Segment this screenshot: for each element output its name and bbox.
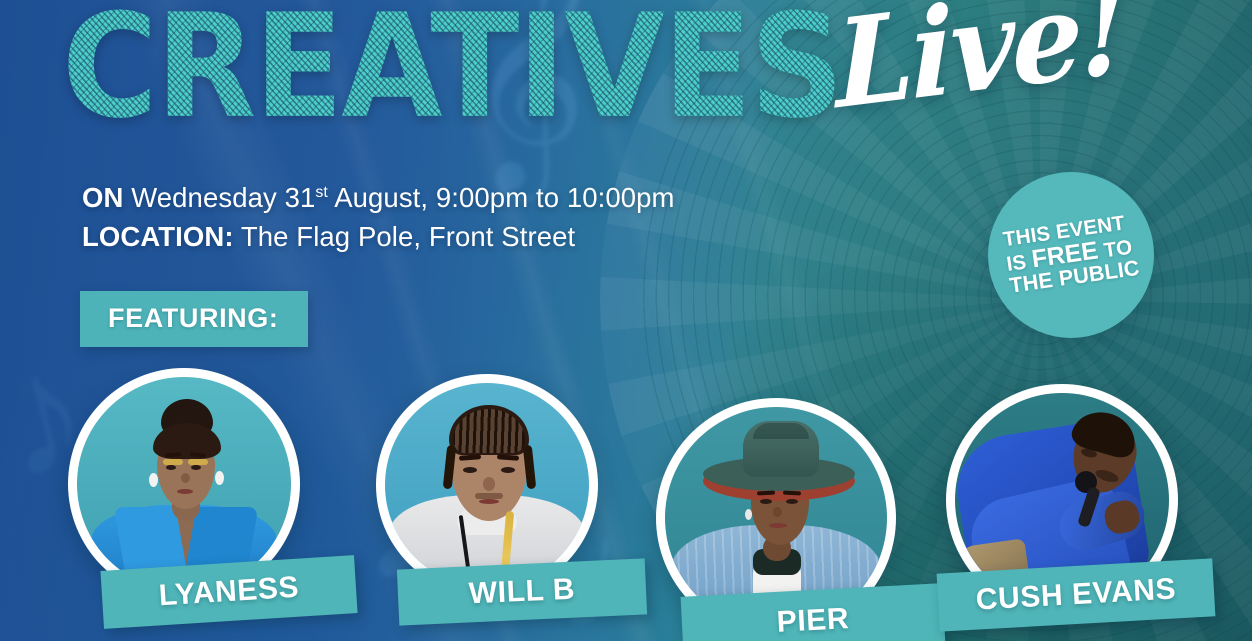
artist-photo (385, 383, 589, 587)
artist-card-pier: PIER (656, 398, 896, 638)
event-poster: 𝄞 ♪ ♩ ♪ CREATIVES CREATIVES Live! ON Wed… (0, 0, 1252, 641)
artist-name: WILL B (468, 573, 576, 612)
artist-card-lyaness: LYANESS (68, 368, 300, 600)
artist-name: CUSH EVANS (975, 572, 1177, 617)
artist-name: LYANESS (158, 571, 300, 614)
artist-name: PIER (776, 602, 850, 640)
artist-card-cush-evans: CUSH EVANS (946, 384, 1178, 616)
artist-name-plate: WILL B (397, 558, 647, 625)
artist-lineup: LYANESS (0, 0, 1252, 641)
artist-card-will-b: WILL B (376, 374, 598, 596)
artist-photo (77, 377, 291, 591)
